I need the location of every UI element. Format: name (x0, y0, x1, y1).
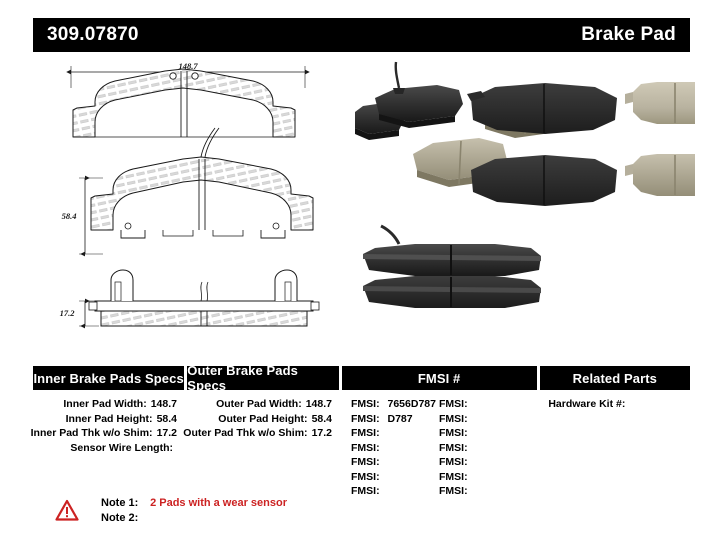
fmsi-label: FMSI: (439, 427, 468, 439)
fmsi-value (380, 456, 385, 468)
fmsi-label: FMSI: (439, 413, 468, 425)
photo-edge-sensor-wire (381, 226, 399, 244)
fmsi-row: FMSI: (439, 397, 527, 412)
height-dimension-label: 58.4 (62, 211, 77, 221)
drawing-middle-back-view: 58.4 (62, 128, 313, 254)
spec-value (173, 441, 177, 456)
fmsi-row: FMSI: (351, 455, 439, 470)
fmsi-value (468, 442, 473, 454)
fmsi-label: FMSI: (351, 413, 380, 425)
spec-row: Inner Pad Height: 58.4 (33, 412, 185, 427)
spec-row: Inner Pad Thk w/o Shim: 17.2 (33, 426, 185, 441)
fmsi-value (380, 471, 385, 483)
fmsi-row: FMSI: (351, 470, 439, 485)
photo-flat-pad-tan-br (633, 154, 695, 196)
technical-drawings-panel: 148.7 58.4 (33, 58, 353, 348)
spec-value: 17.2 (308, 426, 332, 441)
related-part-row: Hardware Kit #: (540, 397, 690, 412)
fmsi-right-column: FMSI: FMSI: FMSI: FMSI: (439, 397, 527, 499)
spec-label: Inner Pad Width: (63, 397, 146, 412)
spec-value: 148.7 (302, 397, 332, 412)
spec-row: Outer Pad Thk w/o Shim: 17.2 (188, 426, 340, 441)
spec-row: Inner Pad Width: 148.7 (33, 397, 185, 412)
fmsi-row: FMSI: (351, 441, 439, 456)
title-bar: 309.07870 Brake Pad (33, 18, 690, 52)
fmsi-label: FMSI: (439, 471, 468, 483)
photo-flat-pad-tan-tr (633, 82, 695, 124)
fmsi-row: FMSI: (439, 426, 527, 441)
note-row-1: Note 1: 2 Pads with a wear sensor (101, 496, 287, 511)
drawing-top-front-view: 148.7 (71, 61, 305, 137)
spec-value: 17.2 (153, 426, 177, 441)
fmsi-value (468, 485, 473, 497)
brake-pad-photographs (355, 58, 695, 348)
fmsi-value: D787 (383, 413, 413, 425)
fmsi-label: FMSI: (439, 442, 468, 454)
fmsi-row: FMSI: (439, 470, 527, 485)
fmsi-row: FMSI: (439, 455, 527, 470)
header-fmsi: FMSI # (342, 366, 537, 390)
fmsi-left-column: FMSI: 7656D787 FMSI: D787 FMSI: FMSI: (351, 397, 439, 499)
product-photos-panel (355, 58, 695, 348)
spec-row: Outer Pad Width: 148.7 (188, 397, 340, 412)
fmsi-row: FMSI: (351, 484, 439, 499)
spec-table: Inner Brake Pads Specs Outer Brake Pads … (33, 366, 690, 499)
header-related-parts: Related Parts (540, 366, 690, 390)
note-label: Note 2: (101, 511, 147, 526)
note-row-2: Note 2: (101, 511, 287, 526)
fmsi-value (468, 471, 473, 483)
fmsi-label: FMSI: (351, 442, 380, 454)
pad-outline-front (73, 69, 295, 137)
fmsi-value (380, 485, 385, 497)
related-parts-cell: Hardware Kit #: (540, 397, 690, 499)
fmsi-label: FMSI: (351, 456, 380, 468)
fmsi-value (468, 456, 473, 468)
fmsi-value (468, 398, 473, 410)
note-label: Note 1: (101, 496, 147, 511)
note-value: 2 Pads with a wear sensor (150, 497, 287, 509)
photo-pad-with-sensor (375, 85, 463, 122)
fmsi-value (468, 413, 473, 425)
thickness-dimension-label: 17.2 (60, 308, 76, 318)
fmsi-row: FMSI: (439, 441, 527, 456)
notes-section: Note 1: 2 Pads with a wear sensor Note 2… (55, 496, 287, 526)
header-inner-brake-pads-specs: Inner Brake Pads Specs (33, 366, 184, 390)
related-part-label: Hardware Kit #: (548, 398, 625, 410)
part-number: 309.07870 (47, 24, 139, 46)
photo-edge-pair-group (363, 226, 541, 308)
fmsi-label: FMSI: (351, 471, 380, 483)
fmsi-cell: FMSI: 7656D787 FMSI: D787 FMSI: FMSI: (343, 397, 537, 499)
drawing-bottom-edge-view: 17.2 (60, 270, 319, 326)
outer-specs-cell: Outer Pad Width: 148.7 Outer Pad Height:… (188, 397, 340, 499)
fmsi-value (380, 427, 385, 439)
spec-row: Sensor Wire Length: (33, 441, 185, 456)
inner-specs-cell: Inner Pad Width: 148.7 Inner Pad Height:… (33, 397, 185, 499)
fmsi-label: FMSI: (439, 398, 468, 410)
warning-triangle-icon (55, 499, 79, 521)
fmsi-label: FMSI: (351, 398, 380, 410)
fmsi-value (380, 442, 385, 454)
header-outer-brake-pads-specs: Outer Brake Pads Specs (187, 366, 338, 390)
fmsi-row: FMSI: (439, 412, 527, 427)
spec-label: Inner Pad Thk w/o Shim: (31, 426, 153, 441)
pad-outline-back (91, 157, 313, 230)
product-name: Brake Pad (581, 24, 676, 46)
photo-wear-sensor-wire (396, 62, 399, 88)
spec-label: Sensor Wire Length: (70, 441, 173, 456)
fmsi-row: FMSI: D787 (351, 412, 439, 427)
fmsi-label: FMSI: (439, 456, 468, 468)
fmsi-label: FMSI: (351, 427, 380, 439)
brake-pad-blueprint: 148.7 58.4 (33, 58, 353, 348)
spec-value: 148.7 (147, 397, 177, 412)
spec-table-header-row: Inner Brake Pads Specs Outer Brake Pads … (33, 366, 690, 390)
spec-label: Outer Pad Width: (216, 397, 302, 412)
spec-row: Outer Pad Height: 58.4 (188, 412, 340, 427)
fmsi-value (468, 427, 473, 439)
spec-label: Outer Pad Height: (218, 412, 307, 427)
spec-label: Inner Pad Height: (66, 412, 153, 427)
fmsi-label: FMSI: (439, 485, 468, 497)
fmsi-row: FMSI: 7656D787 (351, 397, 439, 412)
fmsi-row: FMSI: (351, 426, 439, 441)
spec-table-body: Inner Pad Width: 148.7 Inner Pad Height:… (33, 390, 690, 499)
fmsi-value: 7656D787 (383, 398, 436, 410)
spec-value: 58.4 (153, 412, 177, 427)
spec-label: Outer Pad Thk w/o Shim: (183, 426, 307, 441)
spec-value: 58.4 (308, 412, 332, 427)
fmsi-label: FMSI: (351, 485, 380, 497)
fmsi-row: FMSI: (439, 484, 527, 499)
